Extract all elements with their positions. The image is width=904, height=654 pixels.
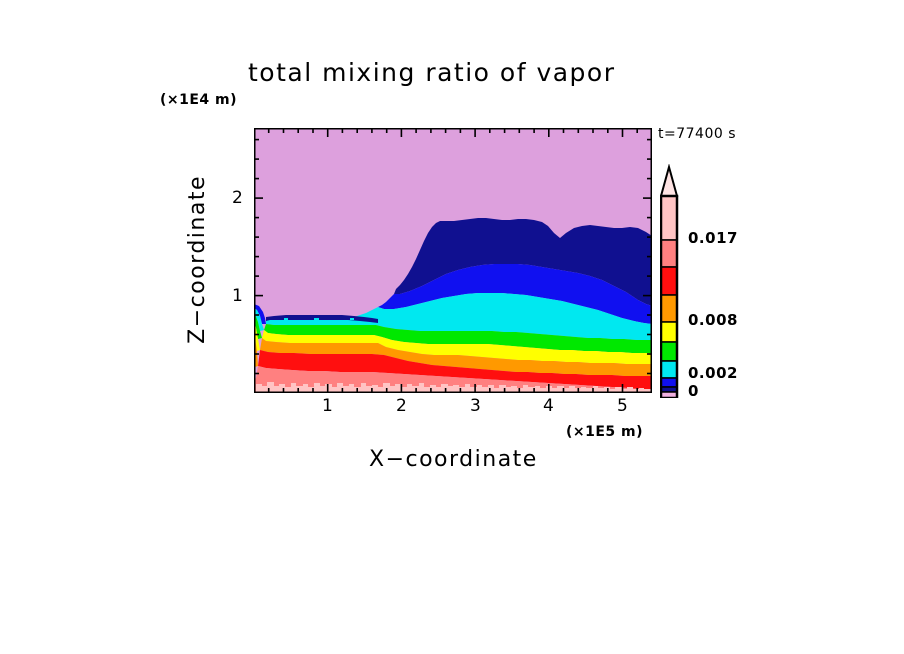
contour-field (254, 128, 652, 393)
colorbar-tick-label: 0.017 (688, 229, 738, 247)
x-tick-label: 1 (322, 396, 333, 416)
colorbar (660, 164, 690, 398)
y-tick-label: 2 (232, 188, 243, 208)
contour-plot-figure: total mixing ratio of vapor (×1E4 m) t=7… (0, 0, 904, 654)
colorbar-tick-label: 0.002 (688, 364, 738, 382)
x-unit-label: (×1E5 m) (566, 424, 643, 440)
x-tick-label: 5 (617, 396, 628, 416)
y-tick-label: 1 (232, 286, 243, 306)
x-tick-label: 2 (396, 396, 407, 416)
colorbar-bands (661, 196, 677, 398)
time-annotation: t=77400 s (658, 126, 736, 142)
y-unit-label: (×1E4 m) (160, 92, 237, 108)
page-title: total mixing ratio of vapor (248, 58, 616, 87)
colorbar-tick-label: 0 (688, 382, 699, 400)
x-tick-label: 3 (470, 396, 481, 416)
x-axis-title: X−coordinate (369, 447, 538, 472)
colorbar-tick-label: 0.008 (688, 311, 738, 329)
x-tick-label: 4 (543, 396, 554, 416)
colorbar-arrow-cap (661, 167, 677, 196)
y-axis-title: Z−coordinate (185, 175, 210, 344)
